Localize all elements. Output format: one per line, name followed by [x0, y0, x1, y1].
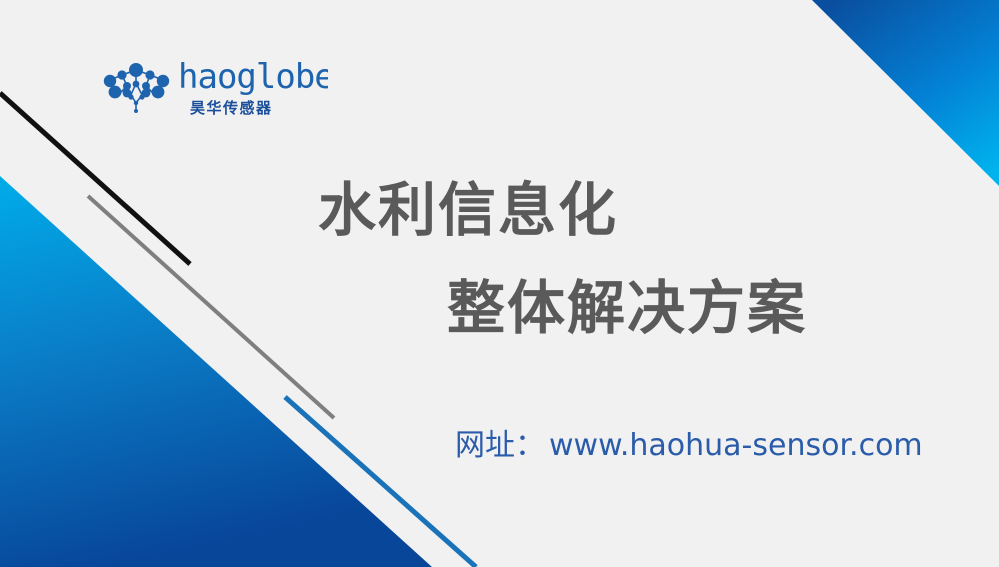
logo-subtitle-chinese: 昊华传感器: [190, 97, 273, 118]
slide-canvas: haoglobe 昊华传感器 水利信息化 整体解决方案 网址： www.haoh…: [0, 0, 999, 567]
haoglobe-wordmark-icon: haoglobe: [178, 57, 328, 97]
company-logo: haoglobe 昊华传感器: [98, 57, 328, 123]
top-right-blue-triangle: [812, 0, 999, 186]
page-title-line-1: 水利信息化: [318, 163, 618, 247]
website-url[interactable]: www.haohua-sensor.com: [549, 428, 923, 463]
page-title-line-2: 整体解决方案: [447, 261, 807, 345]
haoglobe-network-nodes-logo-icon: [98, 59, 176, 117]
svg-text:haoglobe: haoglobe: [178, 57, 328, 97]
website-row: 网址： www.haohua-sensor.com: [455, 420, 923, 464]
website-label: 网址：: [455, 420, 545, 464]
